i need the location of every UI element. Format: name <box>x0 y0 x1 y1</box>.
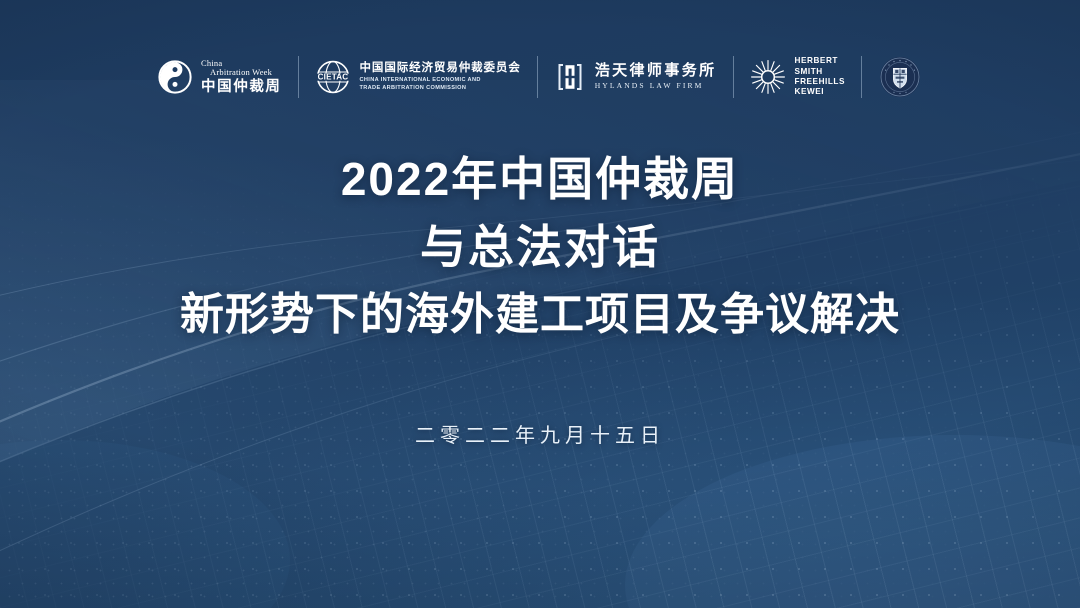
caw-en-line2: Arbitration Week <box>201 68 282 78</box>
logo-hylands-law-firm: 浩天律师事务所 HYLANDS LAW FIRM <box>538 61 733 93</box>
title-line-1: 2022年中国仲裁周 <box>0 148 1080 210</box>
event-date: 二零二二年九月十五日 <box>0 419 1080 448</box>
title-line-2: 与总法对话 <box>0 216 1080 278</box>
logo-china-arbitration-week: China Arbitration Week 中国仲裁周 <box>142 59 298 95</box>
hsf-line-4: KEWEI <box>795 87 845 97</box>
hylands-en-name: HYLANDS LAW FIRM <box>595 82 717 91</box>
cietac-en-line1: CHINA INTERNATIONAL ECONOMIC AND <box>360 77 521 83</box>
university-crest-icon <box>878 55 922 99</box>
hsf-starburst-icon <box>750 59 786 95</box>
title-line-3: 新形势下的海外建工项目及争议解决 <box>0 284 1080 346</box>
cietac-en-line2: TRADE ARBITRATION COMMISSION <box>360 85 521 91</box>
logo-herbert-smith-freehills-kewei: HERBERT SMITH FREEHILLS KEWEI <box>734 56 861 97</box>
caw-emblem-icon <box>158 60 192 94</box>
hsf-line-2: SMITH <box>795 67 845 77</box>
conference-title-slide: China Arbitration Week 中国仲裁周 CIETAC 中国国际… <box>0 0 1080 608</box>
cietac-globe-icon: CIETAC <box>315 59 351 95</box>
logo-university-crest <box>862 55 938 99</box>
caw-cn-name: 中国仲裁周 <box>201 79 282 95</box>
hylands-cn-name: 浩天律师事务所 <box>595 63 717 80</box>
partner-logo-bar: China Arbitration Week 中国仲裁周 CIETAC 中国国际… <box>0 42 1080 112</box>
logo-cietac: CIETAC 中国国际经济贸易仲裁委员会 CHINA INTERNATIONAL… <box>299 59 537 95</box>
hsf-line-1: HERBERT <box>795 56 845 66</box>
title-block: 2022年中国仲裁周 与总法对话 新形势下的海外建工项目及争议解决 <box>0 148 1080 346</box>
hsf-line-3: FREEHILLS <box>795 77 845 87</box>
hylands-bracket-icon <box>554 61 586 93</box>
cietac-mark-text: CIETAC <box>317 72 348 81</box>
cietac-cn-name: 中国国际经济贸易仲裁委员会 <box>360 62 521 75</box>
